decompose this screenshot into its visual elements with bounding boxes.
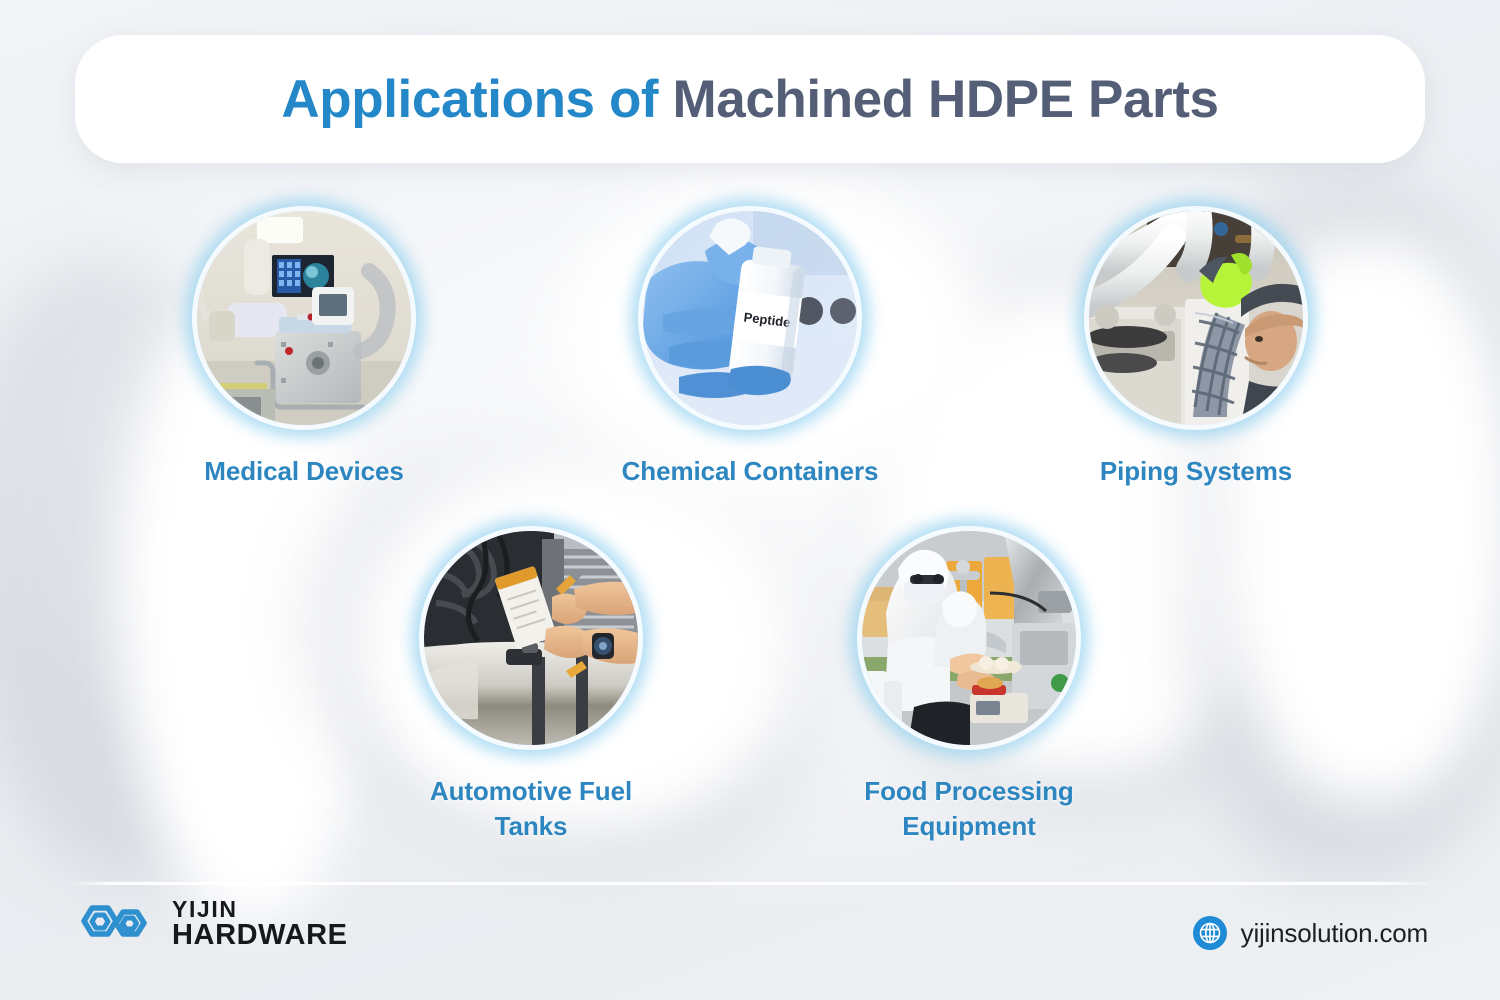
circle-frame <box>847 516 1091 760</box>
brand-name-secondary: HARDWARE <box>172 921 348 951</box>
brand-lockup: YIJIN HARDWARE <box>72 898 348 951</box>
image-medical-devices <box>197 211 411 425</box>
website-url[interactable]: yijinsolution.com <box>1241 918 1428 949</box>
brand-text: YIJIN HARDWARE <box>172 898 348 951</box>
title-card: Applications of Machined HDPE Parts <box>75 35 1425 163</box>
page-title: Applications of Machined HDPE Parts <box>281 73 1218 126</box>
application-row-bottom: Automotive Fuel Tanks <box>0 516 1500 843</box>
application-label: Chemical Containers <box>622 454 879 489</box>
application-row-top: Medical Devices <box>0 196 1500 489</box>
application-item-chemical-containers[interactable]: Peptide Chemical Containers <box>605 196 895 489</box>
application-label: Automotive Fuel Tanks <box>430 774 632 843</box>
food-production-line-illustration <box>862 531 1076 745</box>
globe-icon <box>1193 916 1227 950</box>
fuel-tank-inspection-illustration <box>424 531 638 745</box>
application-item-automotive-fuel-tanks[interactable]: Automotive Fuel Tanks <box>386 516 676 843</box>
circle-frame: Peptide <box>628 196 872 440</box>
image-food-processing-equipment <box>862 531 1076 745</box>
infographic-poster: Applications of Machined HDPE Parts <box>0 0 1500 1000</box>
circle-frame <box>182 196 426 440</box>
page-title-main: Machined HDPE Parts <box>673 70 1219 129</box>
gloved-hand-bottle-illustration: Peptide <box>643 211 857 425</box>
footer-divider <box>70 882 1430 885</box>
application-item-medical-devices[interactable]: Medical Devices <box>159 196 449 489</box>
circle-frame <box>1074 196 1318 440</box>
image-chemical-containers: Peptide <box>643 211 857 425</box>
website-lockup[interactable]: yijinsolution.com <box>1193 916 1428 950</box>
pipe-installation-illustration <box>1089 211 1303 425</box>
application-label: Medical Devices <box>204 454 403 489</box>
application-item-food-processing-equipment[interactable]: Food Processing Equipment <box>824 516 1114 843</box>
operating-room-illustration <box>197 211 411 425</box>
application-label: Food Processing Equipment <box>864 774 1073 843</box>
circle-frame <box>409 516 653 760</box>
image-piping-systems <box>1089 211 1303 425</box>
application-item-piping-systems[interactable]: Piping Systems <box>1051 196 1341 489</box>
page-title-accent: Applications of <box>281 70 658 129</box>
infinity-hexagon-logo-icon <box>72 901 158 949</box>
application-label: Piping Systems <box>1100 454 1292 489</box>
brand-name-primary: YIJIN <box>172 898 348 921</box>
image-automotive-fuel-tanks <box>424 531 638 745</box>
